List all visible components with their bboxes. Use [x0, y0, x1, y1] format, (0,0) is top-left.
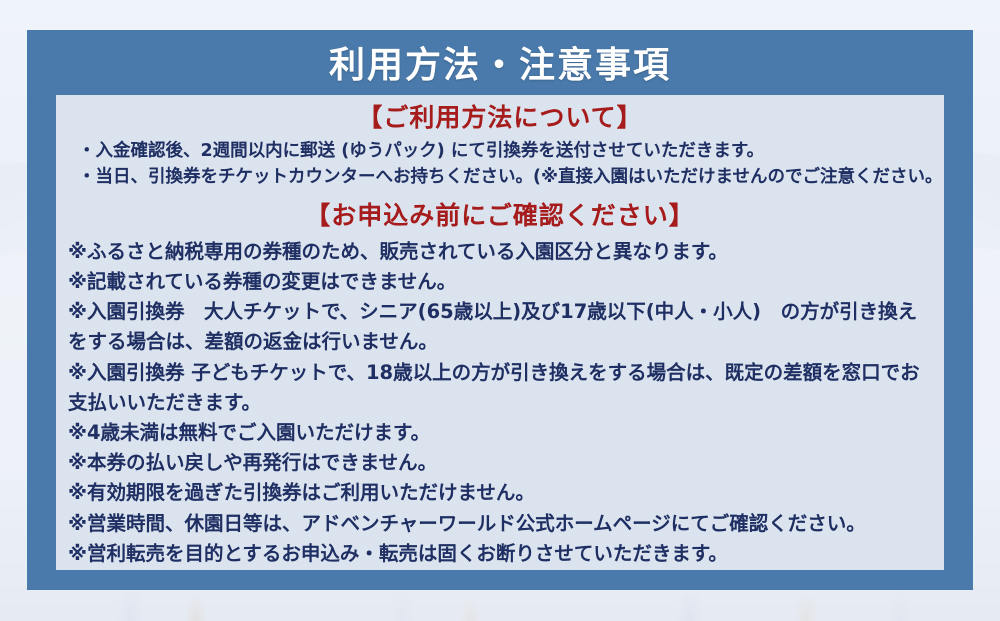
note-item: ※本券の払い戻しや再発行はできません。: [68, 448, 932, 478]
usage-bullet-item: ・入金確認後、2週間以内に郵送 (ゆうパック) にて引換券を送付させていただきま…: [68, 138, 932, 165]
note-item: ※記載されている券種の変更はできません。: [68, 267, 932, 297]
content-frame: 利用方法・注意事項 【ご利用方法について】 ・入金確認後、2週間以内に郵送 (ゆ…: [27, 30, 973, 590]
note-item: ※ふるさと納税専用の券種のため、販売されている入園区分と異なります。: [68, 237, 932, 267]
note-item: ※営利転売を目的とするお申込み・転売は固くお断りさせていただきます。: [68, 539, 932, 569]
note-item: ※入園引換券 子どもチケットで、18歳以上の方が引き換えをする場合は、既定の差額…: [68, 358, 932, 418]
section-heading-before-apply: 【お申込み前にご確認ください】: [68, 199, 932, 233]
note-item: ※4歳未満は無料でご入園いただけます。: [68, 418, 932, 448]
page-title: 利用方法・注意事項: [27, 30, 973, 94]
content-panel: 【ご利用方法について】 ・入金確認後、2週間以内に郵送 (ゆうパック) にて引換…: [56, 95, 944, 570]
usage-bullet-item: ・当日、引換券をチケットカウンターへお持ちください。(※直接入園はいただけません…: [68, 164, 932, 191]
usage-bullet-list: ・入金確認後、2週間以内に郵送 (ゆうパック) にて引換券を送付させていただきま…: [68, 138, 932, 191]
note-item: ※有効期限を過ぎた引換券はご利用いただけません。: [68, 478, 932, 508]
section-heading-usage: 【ご利用方法について】: [68, 101, 932, 135]
info-panel-screenshot: ADVENTURE WORLD Welcome! 利用方法・注意事項 【ご利用方…: [0, 0, 1000, 621]
note-item: ※営業時間、休園日等は、アドベンチャーワールド公式ホームページにてご確認ください…: [68, 509, 932, 539]
note-item: ※入園引換券 大人チケットで、シニア(65歳以上)及び17歳以下(中人・小人) …: [68, 297, 932, 357]
notes-list: ※ふるさと納税専用の券種のため、販売されている入園区分と異なります。 ※記載され…: [68, 237, 932, 569]
